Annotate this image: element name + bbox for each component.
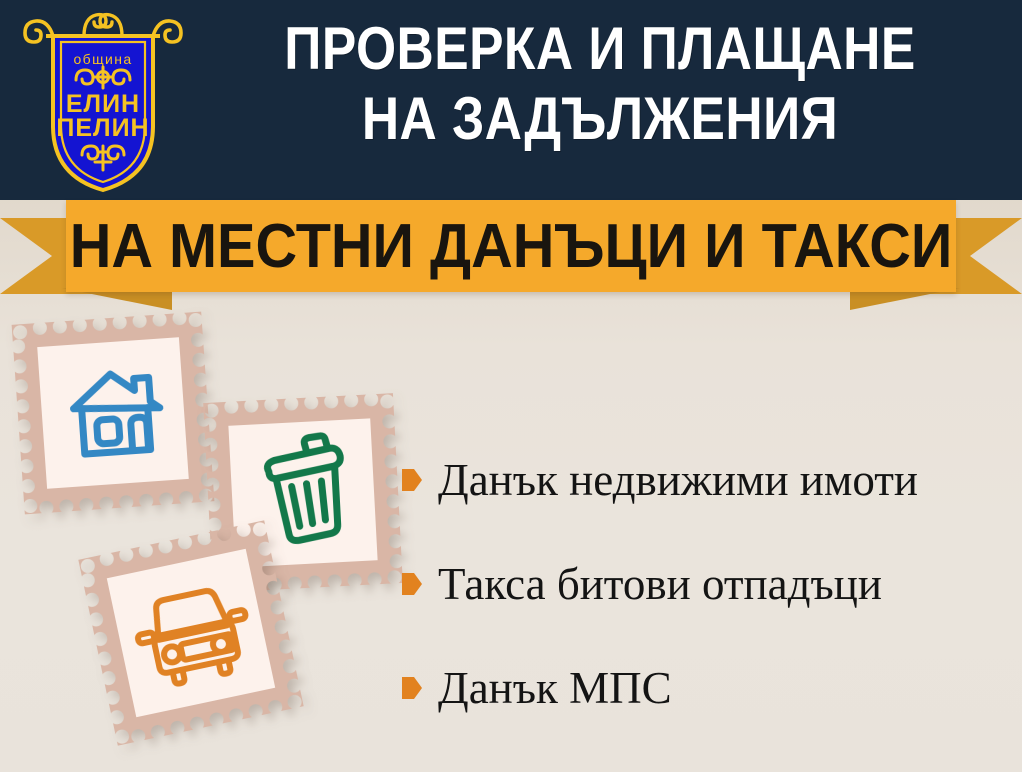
page-title: ПРОВЕРКА И ПЛАЩАНЕ НА ЗАДЪЛЖЕНИЯ	[247, 14, 952, 153]
real-estate-stamp	[12, 312, 215, 515]
arrow-bullet-icon	[402, 677, 422, 699]
crest-top-text: община	[73, 51, 132, 67]
list-item-label: Такса битови отпадъци	[438, 562, 882, 607]
crest-name-line2: ПЕЛИН	[56, 114, 149, 142]
list-item[interactable]: Такса битови отпадъци	[402, 532, 1012, 636]
vehicle-stamp	[78, 520, 303, 745]
page-title-line-1: ПРОВЕРКА И ПЛАЩАНЕ	[247, 14, 952, 84]
poster-canvas: община ЕЛИН ПЕЛИН ПРОВЕРКА И ПЛАЩ	[0, 0, 1022, 772]
list-item[interactable]: Данък МПС	[402, 636, 1012, 740]
ribbon-label: НА МЕСТНИ ДАНЪЦИ И ТАКСИ	[97, 200, 925, 292]
coat-of-arms: община ЕЛИН ПЕЛИН	[22, 8, 184, 194]
list-item-label: Данък недвижими имоти	[438, 458, 918, 503]
list-item-label: Данък МПС	[438, 666, 672, 711]
arrow-bullet-icon	[402, 573, 422, 595]
page-title-line-2: НА ЗАДЪЛЖЕНИЯ	[247, 84, 952, 154]
list-item[interactable]: Данък недвижими имоти	[402, 428, 1012, 532]
ribbon-banner: НА МЕСТНИ ДАНЪЦИ И ТАКСИ	[0, 200, 1022, 312]
tax-type-list: Данък недвижими имоти Такса битови отпад…	[402, 428, 1012, 740]
arrow-bullet-icon	[402, 469, 422, 491]
